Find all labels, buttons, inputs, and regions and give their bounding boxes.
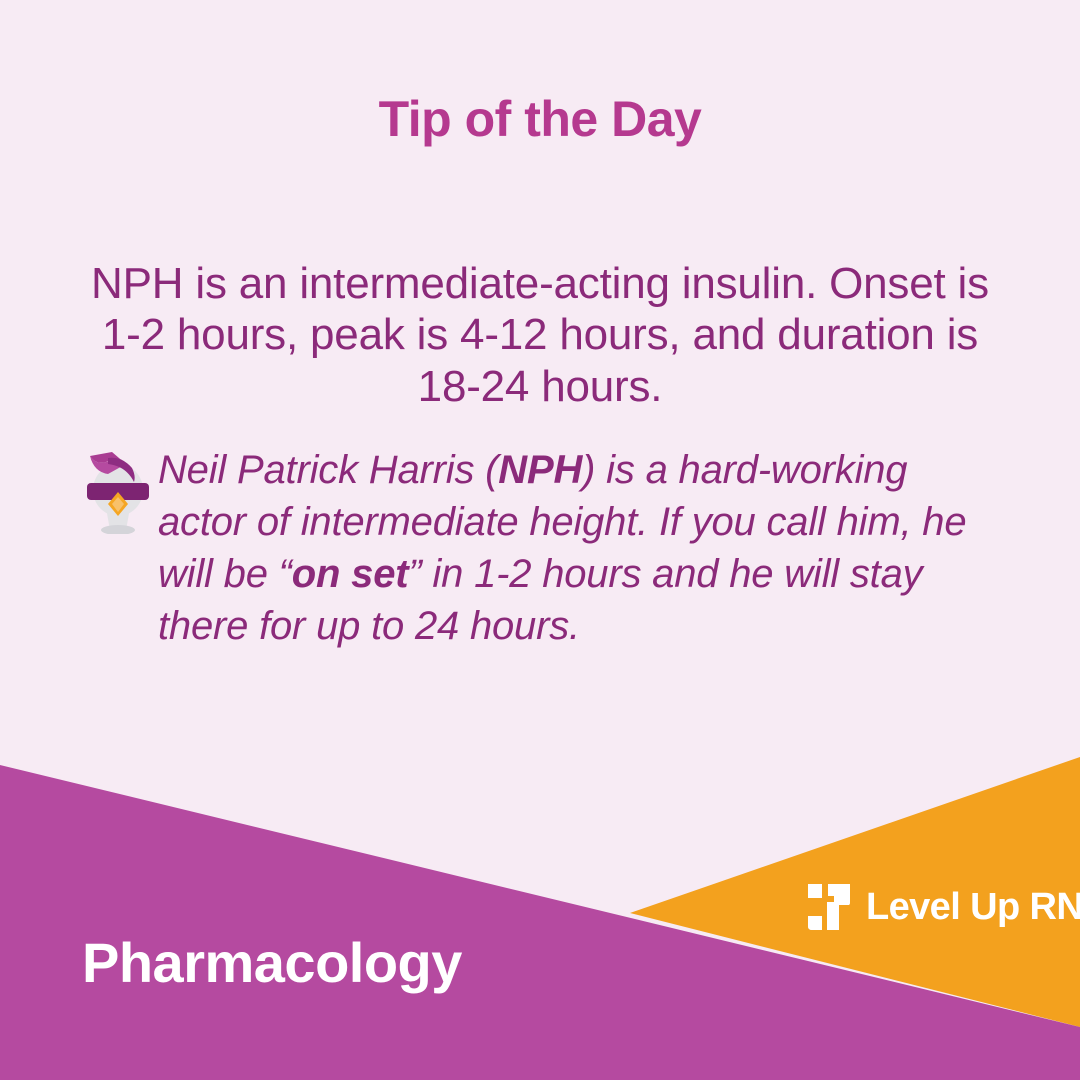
brand-name-text: Level Up RN [866, 886, 1080, 928]
category-label: Pharmacology [82, 930, 462, 995]
fact-statement: NPH is an intermediate-acting insulin. O… [70, 258, 1010, 412]
mnemonic-run: Neil Patrick Harris ( [158, 448, 498, 492]
brand-wordmark: Level Up RN® [866, 886, 1080, 929]
brand-logo: Level Up RN® [806, 882, 1080, 932]
mnemonic-block: Neil Patrick Harris (NPH) is a hard-work… [82, 444, 1002, 652]
level-up-rn-logo-icon [806, 882, 852, 932]
tip-of-the-day-card: Tip of the Day NPH is an intermediate-ac… [0, 0, 1080, 1080]
mnemonic-emphasis: NPH [498, 448, 582, 492]
penguin-mascot-icon [82, 450, 154, 534]
mnemonic-emphasis: on set [292, 552, 409, 596]
page-title: Tip of the Day [0, 92, 1080, 147]
mnemonic-text: Neil Patrick Harris (NPH) is a hard-work… [158, 444, 1002, 652]
